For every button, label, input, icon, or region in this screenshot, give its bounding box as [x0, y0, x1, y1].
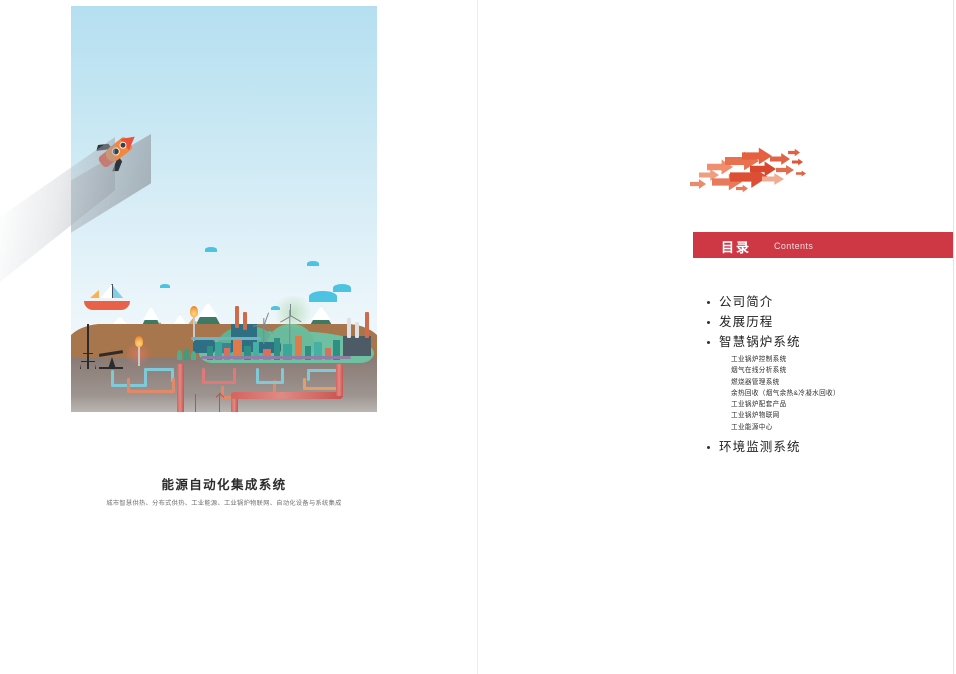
smokestack: [235, 306, 239, 328]
return-pipe-horizontal: [231, 392, 343, 399]
flow-arrow-up-icon: [216, 394, 223, 412]
smokestack: [365, 312, 369, 338]
underground-pipe: [233, 368, 236, 384]
cloud-icon: [205, 247, 217, 252]
toc-subitem[interactable]: 工业锅炉控制系统: [705, 354, 955, 365]
contents-title-cn: 目录: [721, 237, 751, 256]
underground-pipe: [172, 378, 175, 392]
flow-arrow-down-icon: [192, 394, 199, 412]
pipeline: [191, 337, 261, 340]
contents-banner: 目录 Contents: [693, 232, 953, 258]
cover-page[interactable]: 能源自动化集成系统 城市智慧供热、分布式供热、工业能源、工业锅炉物联网、自动化设…: [0, 0, 478, 674]
gas-flare-icon: [134, 336, 144, 366]
tree-icon: [191, 351, 196, 360]
underground-pipe: [202, 381, 236, 384]
oil-derrick-icon: [80, 324, 96, 369]
toc-subitem[interactable]: 烟气在线分析系统: [705, 365, 955, 376]
tree-icon: [184, 348, 189, 360]
toc-item[interactable]: 智慧锅炉系统: [705, 332, 955, 352]
tree-icon: [177, 350, 182, 360]
sailboat-icon: [84, 284, 130, 310]
underground-pipe: [127, 390, 175, 393]
supply-pipe-down: [177, 364, 184, 412]
cover-subtitle: 城市智慧供热、分布式供热、工业能源、工业锅炉物联网、自动化设备与系统集成: [71, 498, 377, 507]
cloud-icon: [309, 291, 337, 302]
toc-item[interactable]: 发展历程: [705, 312, 955, 332]
wind-turbine-icon: [257, 312, 271, 344]
cloud-icon: [160, 284, 170, 288]
toc-subitem[interactable]: 燃烧器管理系统: [705, 377, 955, 388]
smokestack: [347, 318, 351, 338]
cloud-icon: [333, 284, 351, 292]
toc-subitem[interactable]: 工业锅炉物联网: [705, 410, 955, 421]
underground-pipe: [281, 368, 284, 384]
toc-item[interactable]: 环境监测系统: [705, 437, 955, 457]
cover-illustration: [71, 6, 377, 412]
factory-icon: [343, 336, 371, 356]
smokestack: [355, 322, 359, 338]
red-arrows-logo: [690, 146, 815, 204]
underground-pipe: [256, 381, 284, 384]
cover-title: 能源自动化集成系统: [71, 474, 377, 493]
toc-subitem-group: 工业锅炉控制系统烟气在线分析系统燃烧器管理系统余热回收（烟气余热&冷凝水回收）工…: [705, 354, 955, 433]
toc-item[interactable]: 公司简介: [705, 292, 955, 312]
return-pipe-riser: [336, 364, 343, 396]
contents-title-en: Contents: [774, 241, 813, 251]
cloud-icon: [307, 261, 319, 266]
toc-subitem[interactable]: 工业锅炉配套产品: [705, 399, 955, 410]
pumpjack-icon: [99, 351, 123, 369]
toc-subitem[interactable]: 余热回收（烟气余热&冷凝水回收）: [705, 388, 955, 399]
smokestack: [243, 312, 247, 330]
pipeline: [201, 356, 351, 359]
underground-pipe: [144, 368, 174, 371]
toc-subitem[interactable]: 工业能源中心: [705, 422, 955, 433]
contents-list[interactable]: 公司简介发展历程智慧锅炉系统工业锅炉控制系统烟气在线分析系统燃烧器管理系统余热回…: [705, 292, 955, 457]
